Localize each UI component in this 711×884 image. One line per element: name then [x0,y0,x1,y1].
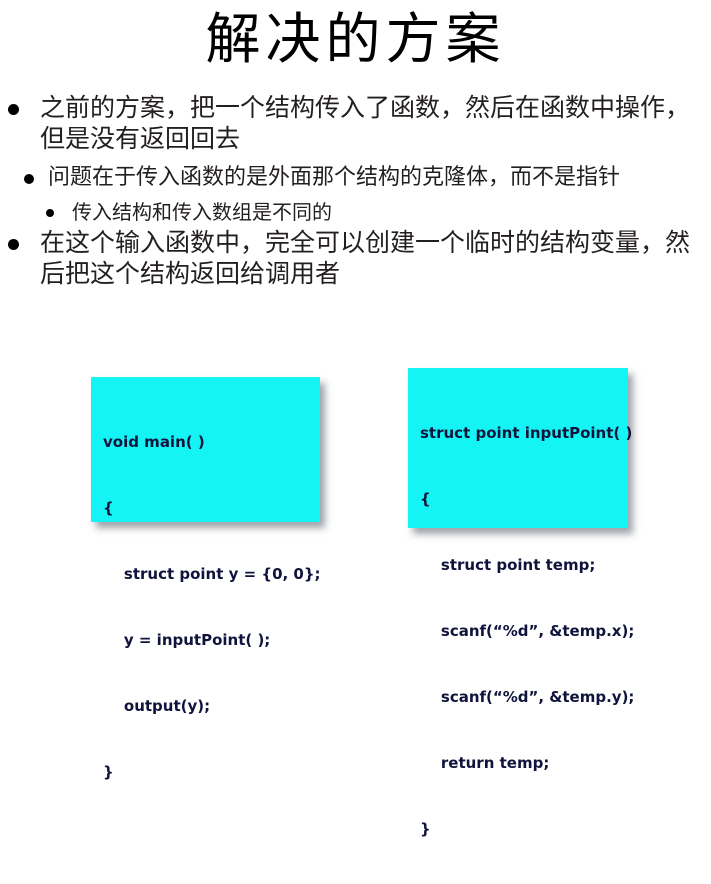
list-item: 问题在于传入函数的是外面那个结构的克隆体，而不是指针 [0,164,711,192]
list-item: 之前的方案，把一个结构传入了函数，然后在函数中操作，但是没有返回回去 [0,92,711,154]
code-line: struct point inputPoint( ) [420,422,616,444]
bullet-marker-icon [46,209,54,217]
list-item: 传入结构和传入数组是不同的 [0,200,711,225]
list-item-label: 在这个输入函数中，完全可以创建一个临时的结构变量，然后把这个结构返回给调用者 [40,227,705,289]
code-line: return temp; [420,752,616,774]
list-item-label: 传入结构和传入数组是不同的 [72,200,703,225]
code-line: scanf(“%d”, &temp.y); [420,686,616,708]
code-line: output(y); [103,695,308,717]
code-line: } [420,818,616,840]
slide: 解决的方案 之前的方案，把一个结构传入了函数，然后在函数中操作，但是没有返回回去… [0,0,711,561]
code-line: void main( ) [103,431,308,453]
code-line: y = inputPoint( ); [103,629,308,651]
code-line: { [420,488,616,510]
code-line: struct point temp; [420,554,616,576]
page-title: 解决的方案 [0,8,711,70]
list-item-label: 之前的方案，把一个结构传入了函数，然后在函数中操作，但是没有返回回去 [40,92,705,154]
code-line: struct point y = {0, 0}; [103,563,308,585]
bullet-marker-icon [8,239,19,250]
code-line: { [103,497,308,519]
code-block-input-point: struct point inputPoint( ) { struct poin… [408,368,628,528]
code-block-main: void main( ) { struct point y = {0, 0}; … [91,377,320,522]
list-item: 在这个输入函数中，完全可以创建一个临时的结构变量，然后把这个结构返回给调用者 [0,227,711,289]
bullet-marker-icon [8,104,19,115]
bullet-list: 之前的方案，把一个结构传入了函数，然后在函数中操作，但是没有返回回去 问题在于传… [0,92,711,293]
code-line: } [103,761,308,783]
code-line: scanf(“%d”, &temp.x); [420,620,616,642]
list-item-label: 问题在于传入函数的是外面那个结构的克隆体，而不是指针 [48,164,703,192]
bullet-marker-icon [24,174,34,184]
